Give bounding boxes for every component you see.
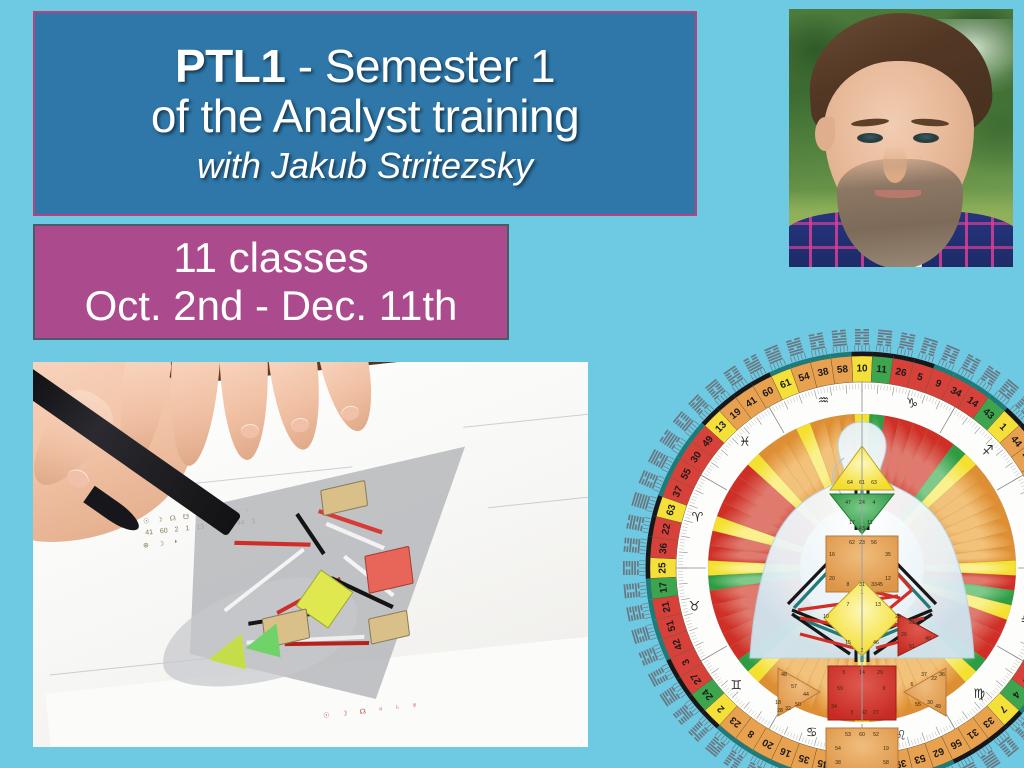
iching-hexagram [626,605,644,622]
bodygraph-gate-label: 58 [883,760,889,766]
bodygraph-gate-label: 15 [845,640,851,646]
zodiac-glyph-aquarius: ♒ [817,393,829,408]
bodygraph-gate-label: 30 [927,700,933,706]
title-line-2: of the Analyst training [151,92,579,141]
bodygraph-gate-label: 55 [915,702,921,708]
bodygraph-gate-label: 29 [877,670,883,676]
bodygraph-gate-label: 18 [775,700,781,706]
bodygraph-gate-label: 60 [859,732,865,738]
bodygraph-gate-label: 45 [877,582,883,588]
bodygraph-gate-label: 25 [895,614,901,620]
iching-hexagram [961,762,981,768]
bodygraph-gate-label: 33 [871,582,877,588]
iching-hexagram [855,329,869,345]
bodygraph-gate-label: 5 [843,670,846,676]
bodygraph-gate-label: 48 [781,672,787,678]
bodygraph-gate-label: 32 [785,706,791,712]
class-count-label: 11 classes [173,235,368,281]
bodygraph-gate-label: 52 [873,732,879,738]
presenter-portrait-photo [789,9,1013,267]
bodygraph-gate-label: 9 [883,686,886,692]
iching-hexagram [899,332,916,350]
iching-hexagram [623,538,640,553]
poster-canvas: PTL1 - Semester 1 of the Analyst trainin… [0,0,1024,768]
mandala-gate-number: 10 [856,364,868,375]
bodygraph-gate-label: 50 [795,702,801,708]
presenter-line: with Jakub Stritezsky [197,147,533,185]
bodygraph-gate-label: 22 [931,676,937,682]
title-line-1: PTL1 - Semester 1 [175,42,555,91]
iching-hexagram [626,515,644,532]
zodiac-glyph-pisces: ♓ [739,435,751,450]
iching-hexagram [648,667,668,687]
zodiac-glyph-sagittarius: ♐ [982,444,994,459]
bodygraph-gate-label: 37 [921,672,927,678]
portrait-eye-right [913,133,939,143]
date-range-label: Oct. 2nd - Dec. 11th [85,283,458,329]
bodygraph-gate-label: 4 [873,500,876,506]
iching-hexagram [920,337,938,356]
bodygraph-gate-label: 26 [901,632,907,638]
iching-hexagram [705,736,726,757]
iching-hexagram [961,354,981,374]
bodygraph-gate-label: 10 [823,614,829,620]
bodygraph-gate-label: 62 [849,540,855,546]
bodygraph-gate-label: 19 [883,746,889,752]
iching-hexagram [623,561,639,575]
title-banner: PTL1 - Semester 1 of the Analyst trainin… [33,11,697,216]
bodygraph-gate-label: 59 [837,686,843,692]
bodygraph-gate-label: 46 [873,640,879,646]
iching-hexagram [998,379,1019,400]
bodygraph-gate-label: 63 [871,480,877,486]
iching-hexagram [673,704,694,725]
iching-hexagram [631,492,650,510]
bodygraph-gate-label: 64 [847,480,853,486]
bodygraph-gate-label: 8 [847,582,850,588]
iching-hexagram [980,750,1000,768]
iching-hexagram [705,379,726,400]
zodiac-glyph-libra: ♎ [1021,611,1024,626]
bodygraph-gate-label: 34 [831,704,837,710]
course-semester: - Semester 1 [285,40,555,92]
course-code: PTL1 [175,40,285,92]
iching-hexagram [743,762,763,768]
iching-hexagram [673,411,694,432]
iching-hexagram [659,429,680,449]
mandala-gate-number: 58 [836,364,849,376]
iching-hexagram [659,686,680,706]
iching-hexagram [723,750,743,768]
bodygraph-gate-label: 16 [829,552,835,558]
portrait-eye-left [857,133,883,143]
bodygraph-gate-label: 56 [871,540,877,546]
iching-hexagram [623,583,640,598]
mandala-gate-number: 36 [658,542,670,555]
iching-hexagram [809,332,826,350]
bodygraph-gate-label: 21 [909,620,915,626]
mandala-svg: ♑♐♏♎♍♌♋♊♉♈♓♒1011265934144314428503257481… [612,318,1024,768]
zodiac-glyph-aries: ♈ [692,511,704,526]
zodiac-glyph-gemini: ♊ [730,678,742,693]
iching-hexagram [786,337,804,356]
mandala-gate-number: 17 [658,581,670,594]
bodygraph-gate-label: 27 [873,710,879,716]
rave-mandala-wheel: ♑♐♏♎♍♌♋♊♉♈♓♒1011265934144314428503257481… [612,318,1024,768]
iching-hexagram [743,354,763,374]
bodygraph-gate-label: 12 [885,576,891,582]
iching-hexagram [877,329,892,346]
mandala-gate-number: 25 [658,562,669,574]
bodygraph-gate-label: 51 [909,644,915,650]
zodiac-glyph-taurus: ♉ [689,600,701,615]
iching-hexagram [1015,721,1024,742]
iching-hexagram [1015,394,1024,415]
bodygraph-gate-label: 47 [845,500,851,506]
bodygraph-gate-label: 28 [777,708,783,714]
bodygraph-gate-label: 11 [867,520,872,526]
portrait-mouth [875,190,921,198]
portrait-ear [815,117,835,151]
iching-hexagram [998,736,1019,757]
bodygraph-gate-label: 17 [849,520,855,526]
worksheet-photo: ☉☽☊☋☿♀♂♃♄ 41602113726443 ⊕☽◑ ☉☽☊♃♄♅ [33,362,588,747]
bodygraph-gate-label: 53 [845,732,851,738]
iching-hexagram [648,449,668,469]
iching-hexagram [832,329,847,346]
portrait-nose [883,145,907,183]
bodygraph-gate-label: 54 [835,746,841,752]
bodygraph-gate-label: 3 [851,710,854,716]
bodygraph-gate-label: 35 [885,552,891,558]
zodiac-glyph-capricorn: ♑ [906,397,918,412]
bodygraph-gate-label: 49 [935,704,941,710]
bodygraph-gate-label: 6 [911,682,914,688]
schedule-box: 11 classes Oct. 2nd - Dec. 11th [33,224,509,340]
zodiac-glyph-cancer: ♋ [806,725,818,740]
iching-hexagram [723,365,743,386]
bodygraph-gate-label: 20 [829,576,835,582]
bodygraph-gate-label: 57 [791,684,797,690]
bodygraph-gate-label: 13 [875,602,881,608]
bodygraph-gate-label: 44 [803,692,809,698]
bodygraph-gate-label: 38 [835,760,841,766]
iching-hexagram [631,626,650,644]
bodygraph-gate-label: 36 [939,672,945,678]
iching-hexagram [980,365,1000,386]
bodygraph-gate-label: 40 [925,636,931,642]
worksheet-fingernail [241,424,259,439]
bodygraph-gate-label: 7 [847,602,850,608]
mandala-gate-number: 11 [876,364,888,376]
zodiac-glyph-virgo: ♍ [973,687,985,702]
